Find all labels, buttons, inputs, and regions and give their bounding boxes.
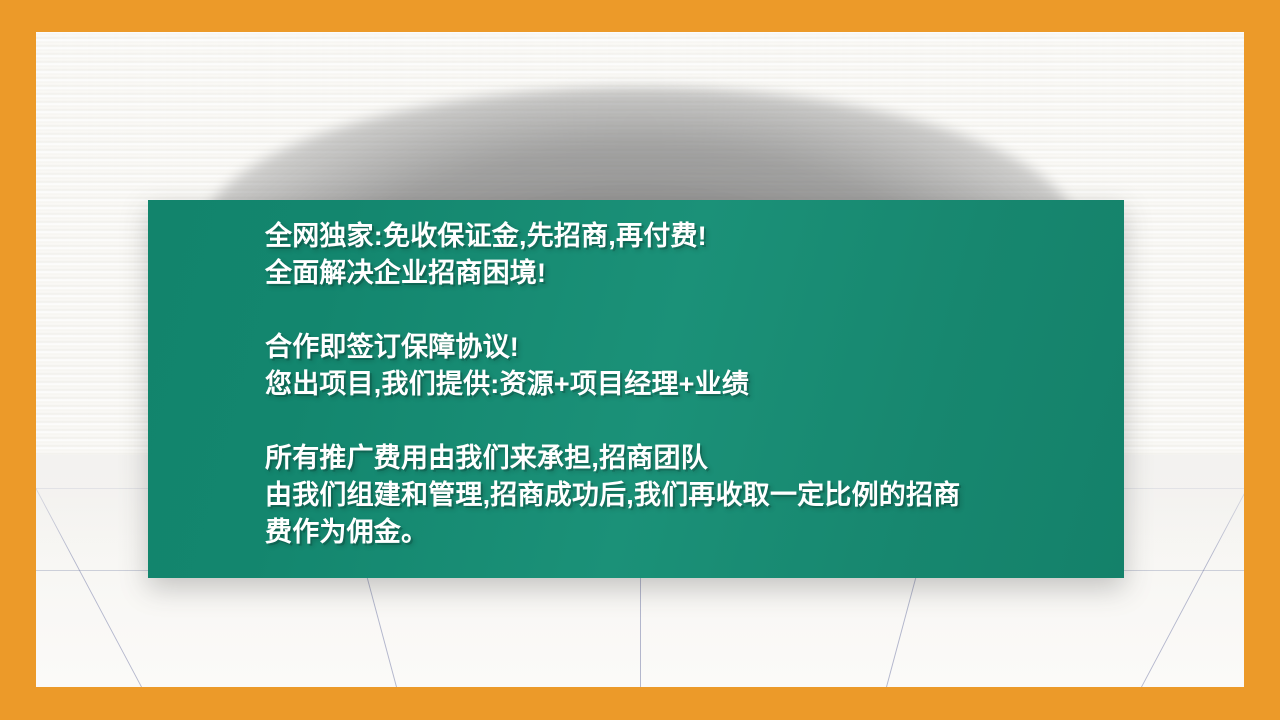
floor-vertical-line (1141, 455, 1244, 687)
panel-text-block: 全网独家:免收保证金,先招商,再付费! 全面解决企业招商困境! 合作即签订保障协… (265, 218, 1106, 551)
room-stage: 全网独家:免收保证金,先招商,再付费! 全面解决企业招商困境! 合作即签订保障协… (36, 32, 1244, 687)
panel-line: 合作即签订保障协议! (265, 329, 1106, 366)
panel-line: 您出项目,我们提供:资源+项目经理+业绩 (265, 366, 1106, 403)
panel-line-spacer (265, 403, 1106, 440)
floor-vertical-line (36, 455, 142, 687)
panel-line-spacer (265, 292, 1106, 329)
panel-line: 全面解决企业招商困境! (265, 255, 1106, 292)
panel-line: 由我们组建和管理,招商成功后,我们再收取一定比例的招商 (265, 477, 1106, 514)
green-content-panel: 全网独家:免收保证金,先招商,再付费! 全面解决企业招商困境! 合作即签订保障协… (148, 200, 1124, 578)
panel-line: 费作为佣金。 (265, 514, 1106, 551)
panel-line: 所有推广费用由我们来承担,招商团队 (265, 440, 1106, 477)
slide-root: 全网独家:免收保证金,先招商,再付费! 全面解决企业招商困境! 合作即签订保障协… (0, 0, 1280, 720)
panel-line: 全网独家:免收保证金,先招商,再付费! (265, 218, 1106, 255)
